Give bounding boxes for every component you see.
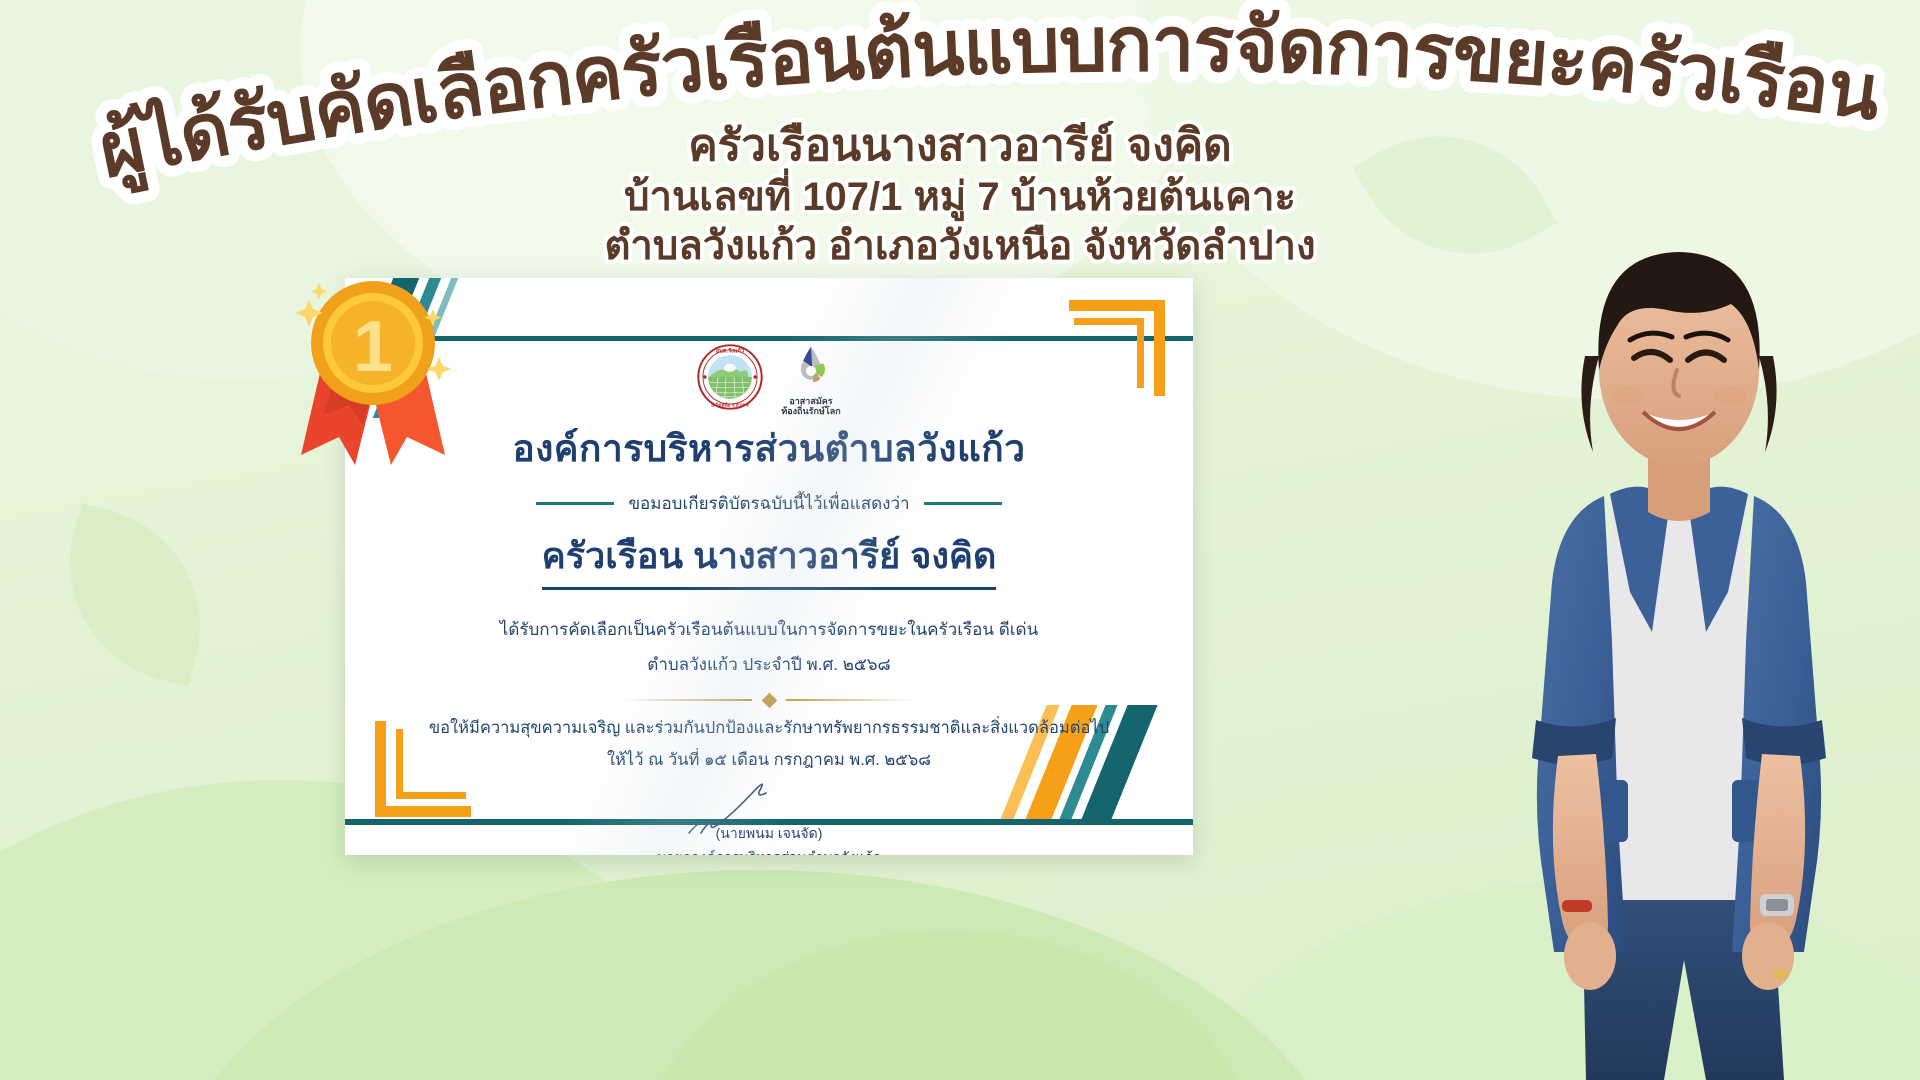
handwritten-signature-icon xyxy=(679,777,869,843)
certificate-wish-line: ขอให้มีความสุขความเจริญ และร่วมกันปกป้อง… xyxy=(429,715,1109,741)
poster-canvas: ผู้ได้รับคัดเลือกครัวเรือนต้นแบบการจัดกา… xyxy=(0,0,1920,1080)
svg-text:อ.วังเหนือ จ.ลำปาง: อ.วังเหนือ จ.ลำปาง xyxy=(711,402,750,408)
gold-divider-ornament xyxy=(624,694,914,701)
volunteer-droplet-logo-icon xyxy=(792,344,830,394)
rule-left xyxy=(536,502,614,505)
volunteer-caption-line-2: ท้องถิ่นรักษ์โลก xyxy=(781,406,840,416)
volunteer-caption-line-1: อาสาสมัคร xyxy=(781,396,840,406)
certificate-logos: อบต.วังแก้ว อ.วังเหนือ จ.ลำปาง อาสาสมัค xyxy=(697,344,840,417)
first-place-medal-ribbon-icon: 1 xyxy=(283,265,463,470)
recipient-photo xyxy=(1462,200,1892,1080)
certificate-body-line-2: ตำบลวังแก้ว ประจำปี พ.ศ. ๒๕๖๘ xyxy=(647,651,890,678)
certificate-issued-date: ให้ไว้ ณ วันที่ ๑๕ เดือน กรกฎาคม พ.ศ. ๒๕… xyxy=(607,747,931,773)
signature-block: (นายพนม เจนจัด) นายกองค์การบริหารส่วนตำบ… xyxy=(619,781,919,855)
certificate-title: องค์การบริหารส่วนตำบลวังแก้ว xyxy=(513,419,1026,478)
certificate-content: อบต.วังแก้ว อ.วังเหนือ จ.ลำปาง อาสาสมัค xyxy=(345,278,1193,855)
recipient-name: ครัวเรือน นางสาวอารีย์ จงคิด xyxy=(542,527,997,590)
certificate-card: อบต.วังแก้ว อ.วังเหนือ จ.ลำปาง อาสาสมัค xyxy=(345,278,1193,855)
abt-wang-kaeo-seal-icon: อบต.วังแก้ว อ.วังเหนือ จ.ลำปาง xyxy=(697,344,763,410)
award-phrase: ขอมอบเกียรติบัตรฉบับนี้ไว้เพื่อแสดงว่า xyxy=(628,490,909,517)
certificate-body-line-1: ได้รับการคัดเลือกเป็นครัวเรือนต้นแบบในกา… xyxy=(500,616,1038,643)
volunteer-logo: อาสาสมัคร ท้องถิ่นรักษ์โลก xyxy=(781,344,840,417)
award-phrase-row: ขอมอบเกียรติบัตรฉบับนี้ไว้เพื่อแสดงว่า xyxy=(536,490,1001,517)
volunteer-logo-caption: อาสาสมัคร ท้องถิ่นรักษ์โลก xyxy=(781,396,840,417)
signature-role: นายกองค์การบริหารส่วนตำบลวังแก้ว xyxy=(619,847,919,855)
medal-rank-number: 1 xyxy=(353,307,393,387)
rule-right xyxy=(924,502,1002,505)
